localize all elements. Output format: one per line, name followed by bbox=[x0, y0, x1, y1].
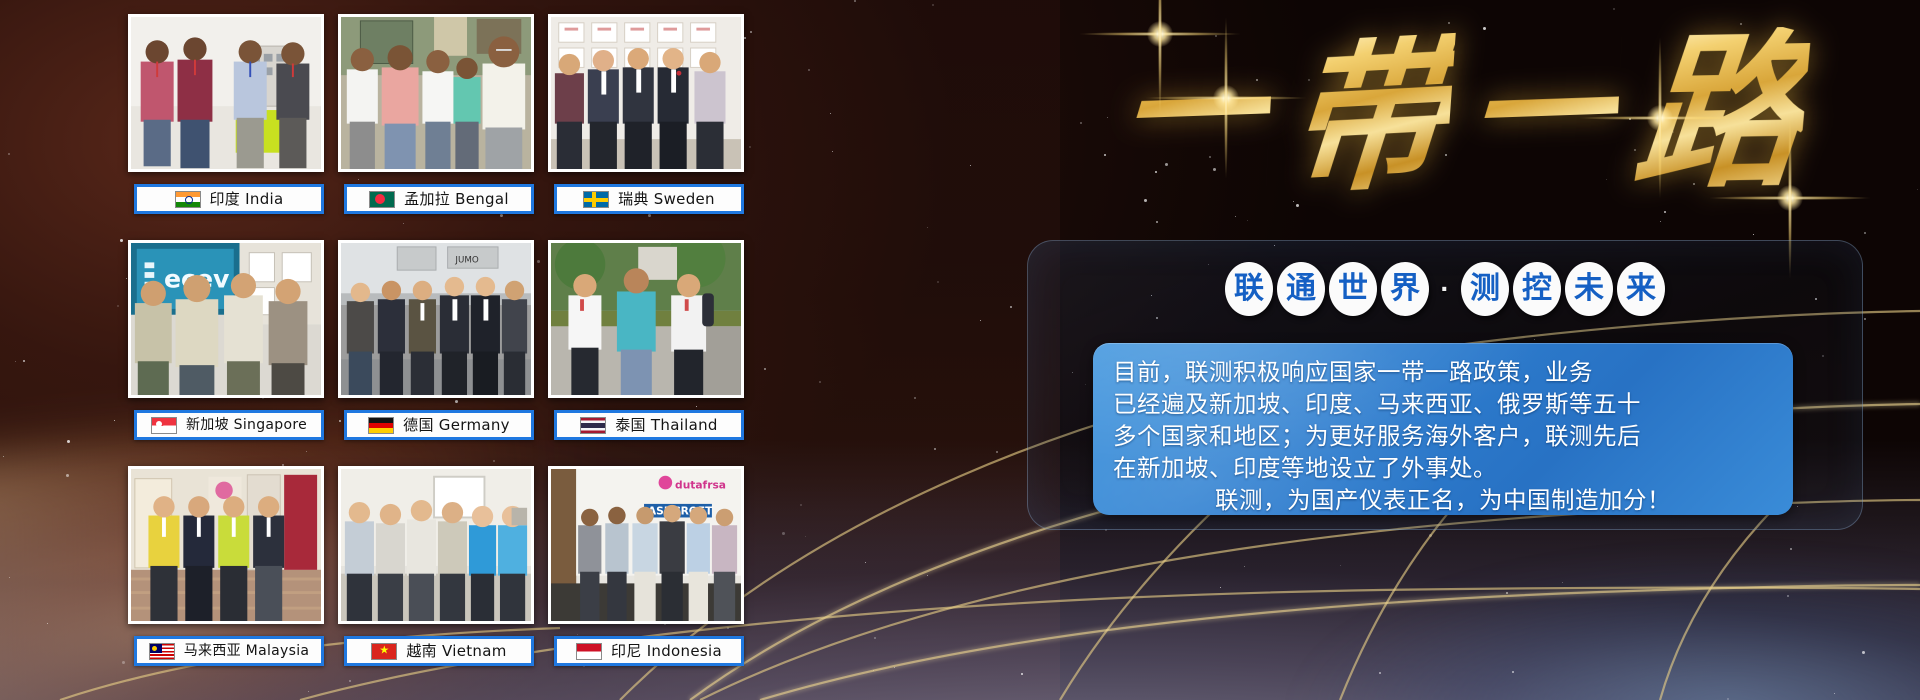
description-line-2: 已经遍及新加坡、印度、马来西亚、俄罗斯等五十 bbox=[1113, 388, 1773, 420]
svg-text:JUMO: JUMO bbox=[454, 255, 478, 265]
description-line-3: 多个国家和地区；为更好服务海外客户，联测先后 bbox=[1113, 420, 1773, 452]
slogan-char: 测 bbox=[1470, 274, 1500, 304]
country-card-germany[interactable]: JUMO 德国 Germany bbox=[338, 240, 534, 452]
slogan-badge-8: 来 bbox=[1617, 262, 1665, 316]
country-card-thailand[interactable]: 泰国 Thailand bbox=[548, 240, 744, 452]
indonesia-flag bbox=[576, 643, 602, 660]
malaysia-flag bbox=[149, 643, 175, 660]
photo-vietnam-image bbox=[341, 469, 531, 622]
belt-and-road-headline: 一 带 一 路 bbox=[1032, 6, 1892, 221]
bengal-flag bbox=[369, 191, 395, 208]
description-line-4: 在新加坡、印度等地设立了外事处。 bbox=[1113, 452, 1773, 484]
india-flag bbox=[175, 191, 201, 208]
slogan-char: 控 bbox=[1522, 274, 1552, 304]
country-label-malaysia[interactable]: 马来西亚 Malaysia bbox=[134, 636, 324, 666]
country-label-text: 孟加拉 Bengal bbox=[404, 192, 509, 207]
country-card-bengal[interactable]: 孟加拉 Bengal bbox=[338, 14, 534, 226]
slogan-badge-2: 通 bbox=[1277, 262, 1325, 316]
photo-indonesia-image: dutafrsa ASHCROFT bbox=[551, 469, 741, 622]
slogan-badge-6: 控 bbox=[1513, 262, 1561, 316]
country-label-thailand[interactable]: 泰国 Thailand bbox=[554, 410, 744, 440]
slogan-badge-3: 世 bbox=[1329, 262, 1377, 316]
photo-india-image bbox=[131, 17, 321, 170]
sweden-flag bbox=[583, 191, 609, 208]
country-card-indonesia[interactable]: dutafrsa ASHCROFT 印尼 Indonesia bbox=[548, 466, 744, 678]
photo-thailand-image bbox=[551, 243, 741, 396]
country-label-singapore[interactable]: 新加坡 Singapore bbox=[134, 410, 324, 440]
photo-sweden-image bbox=[551, 17, 741, 170]
thailand-flag bbox=[580, 417, 606, 434]
country-label-text: 马来西亚 Malaysia bbox=[184, 644, 310, 658]
headline-char-4: 路 bbox=[1629, 26, 1812, 197]
headline-char-1: 一 bbox=[1116, 36, 1274, 191]
photo-vietnam bbox=[338, 466, 534, 624]
country-label-indonesia[interactable]: 印尼 Indonesia bbox=[554, 636, 744, 666]
country-card-malaysia[interactable]: 马来西亚 Malaysia bbox=[128, 466, 324, 678]
photo-germany: JUMO bbox=[338, 240, 534, 398]
country-label-india[interactable]: 印度 India bbox=[134, 184, 324, 214]
photo-malaysia bbox=[128, 466, 324, 624]
photo-bengal-image bbox=[341, 17, 531, 170]
photo-bengal bbox=[338, 14, 534, 172]
slogan-char: 未 bbox=[1574, 274, 1604, 304]
slogan-char: 界 bbox=[1390, 274, 1420, 304]
country-photo-grid: 印度 India bbox=[128, 14, 764, 690]
country-card-vietnam[interactable]: 越南 Vietnam bbox=[338, 466, 534, 678]
banner-stage: 印度 India bbox=[0, 0, 1920, 700]
slogan-badge-4: 界 bbox=[1381, 262, 1429, 316]
photo-singapore: ecev bbox=[128, 240, 324, 398]
photo-indonesia: dutafrsa ASHCROFT bbox=[548, 466, 744, 624]
country-label-vietnam[interactable]: 越南 Vietnam bbox=[344, 636, 534, 666]
slogan-badge-1: 联 bbox=[1225, 262, 1273, 316]
country-label-text: 越南 Vietnam bbox=[406, 644, 506, 659]
description-line-1: 目前，联测积极响应国家一带一路政策，业务 bbox=[1113, 356, 1773, 388]
slogan-char: 联 bbox=[1234, 274, 1264, 304]
singapore-flag bbox=[151, 417, 177, 434]
headline-char-3: 一 bbox=[1464, 36, 1622, 191]
slogan-char: 世 bbox=[1338, 274, 1368, 304]
country-label-text: 印度 India bbox=[210, 192, 284, 207]
photo-malaysia-image bbox=[131, 469, 321, 622]
country-label-text: 印尼 Indonesia bbox=[611, 644, 722, 659]
photo-germany-image: JUMO bbox=[341, 243, 531, 396]
country-label-text: 德国 Germany bbox=[403, 418, 510, 433]
country-card-sweden[interactable]: 瑞典 Sweden bbox=[548, 14, 744, 226]
country-label-text: 泰国 Thailand bbox=[615, 418, 718, 433]
country-label-text: 瑞典 Sweden bbox=[618, 192, 715, 207]
photo-india bbox=[128, 14, 324, 172]
slogan-badge-7: 未 bbox=[1565, 262, 1613, 316]
description-line-5: 联测，为国产仪表正名，为中国制造加分！ bbox=[1113, 484, 1773, 515]
svg-text:dutafrsa: dutafrsa bbox=[675, 478, 726, 491]
germany-flag bbox=[368, 417, 394, 434]
country-label-text: 新加坡 Singapore bbox=[186, 418, 307, 432]
country-label-germany[interactable]: 德国 Germany bbox=[344, 410, 534, 440]
photo-thailand bbox=[548, 240, 744, 398]
photo-sweden bbox=[548, 14, 744, 172]
vietnam-flag bbox=[371, 643, 397, 660]
photo-singapore-image: ecev bbox=[131, 243, 321, 396]
slogan-badge-5: 测 bbox=[1461, 262, 1509, 316]
description-panel: 目前，联测积极响应国家一带一路政策，业务 已经遍及新加坡、印度、马来西亚、俄罗斯… bbox=[1093, 343, 1793, 515]
country-card-singapore[interactable]: ecev 新加坡 Singapore bbox=[128, 240, 324, 452]
slogan-char: 通 bbox=[1286, 274, 1316, 304]
country-label-sweden[interactable]: 瑞典 Sweden bbox=[554, 184, 744, 214]
slogan-separator: · bbox=[1433, 262, 1457, 316]
company-slogan: 联 通 世 界 · 测 控 未 来 bbox=[1027, 258, 1863, 320]
slogan-char: 来 bbox=[1626, 274, 1656, 304]
headline-char-2: 带 bbox=[1282, 32, 1456, 202]
country-label-bengal[interactable]: 孟加拉 Bengal bbox=[344, 184, 534, 214]
country-card-india[interactable]: 印度 India bbox=[128, 14, 324, 226]
